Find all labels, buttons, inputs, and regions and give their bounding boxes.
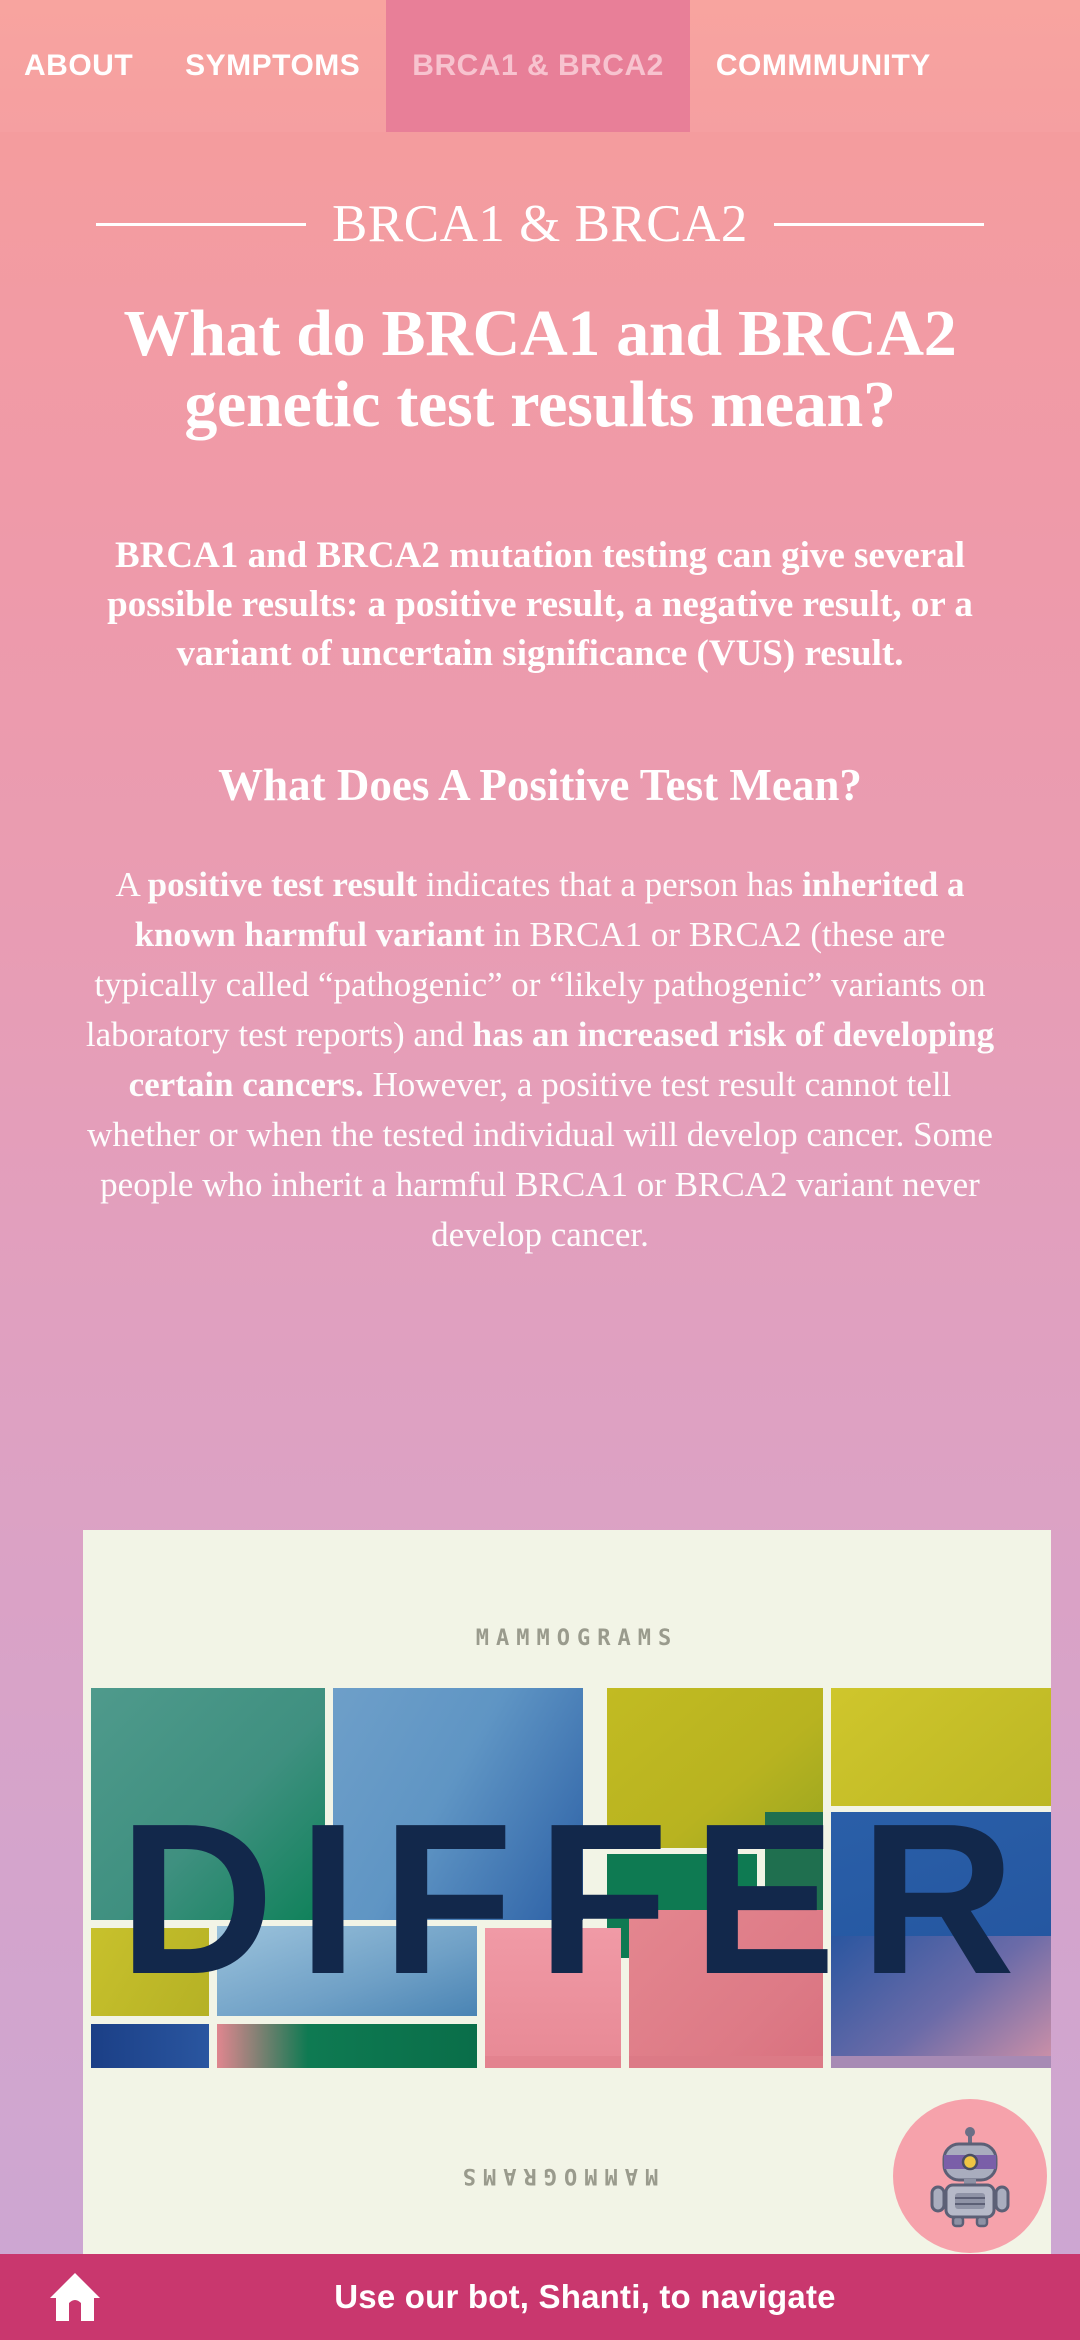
body-bold-run: positive test result: [148, 865, 418, 904]
bottom-bar: Use our bot, Shanti, to navigate: [0, 2254, 1080, 2340]
top-navigation: ABOUT SYMPTOMS BRCA1 & BRCA2 COMMMUNITY: [0, 0, 1080, 132]
nav-item-community[interactable]: COMMMUNITY: [690, 0, 957, 132]
collage-block: [629, 2056, 823, 2068]
collage-block: [217, 1926, 477, 2016]
nav-item-about[interactable]: ABOUT: [0, 0, 159, 132]
body-text-run: A: [116, 865, 148, 904]
collage-block: [91, 2024, 209, 2068]
home-icon: [48, 2271, 102, 2323]
section-heading-positive-test: What Does A Positive Test Mean?: [70, 758, 1010, 812]
collage-block: [831, 2056, 1051, 2068]
collage-block: [217, 2024, 477, 2068]
home-button[interactable]: [0, 2271, 150, 2323]
collage-block: [91, 1928, 209, 2016]
section-eyebrow-row: BRCA1 & BRCA2: [0, 194, 1080, 254]
nav-item-label: SYMPTOMS: [185, 49, 360, 83]
chatbot-button[interactable]: [893, 2099, 1047, 2253]
collage-block: [333, 1688, 583, 1920]
nav-item-brca1-brca2[interactable]: BRCA1 & BRCA2: [386, 0, 690, 132]
nav-item-symptoms[interactable]: SYMPTOMS: [159, 0, 386, 132]
nav-item-label: BRCA1 & BRCA2: [412, 49, 664, 83]
intro-paragraph: BRCA1 and BRCA2 mutation testing can giv…: [100, 531, 980, 679]
collage-block: [485, 2056, 621, 2068]
image-caption-top: MAMMOGRAMS: [83, 1626, 1051, 1651]
page-root: ABOUT SYMPTOMS BRCA1 & BRCA2 COMMMUNITY …: [0, 0, 1080, 2340]
robot-icon: [918, 2124, 1022, 2228]
collage-block: [831, 1688, 1051, 1806]
divider-right: [774, 223, 984, 226]
page-title: What do BRCA1 and BRCA2 genetic test res…: [75, 298, 1005, 441]
collage-block: [831, 1936, 1051, 2056]
collage-block: [629, 1910, 823, 2056]
section-body-paragraph: A positive test result indicates that a …: [70, 860, 1010, 1260]
collage-block: [91, 1688, 325, 1920]
section-eyebrow: BRCA1 & BRCA2: [332, 194, 748, 254]
nav-item-label: COMMMUNITY: [716, 49, 931, 83]
body-text-run: indicates that a person has: [417, 865, 802, 904]
nav-item-label: ABOUT: [24, 49, 133, 83]
collage-block: [485, 1928, 621, 2056]
divider-left: [96, 223, 306, 226]
main-content: BRCA1 & BRCA2 What do BRCA1 and BRCA2 ge…: [0, 132, 1080, 1261]
collage-blocks: [83, 1688, 1051, 2108]
chatbot-cta-label: Use our bot, Shanti, to navigate: [150, 2278, 1080, 2316]
